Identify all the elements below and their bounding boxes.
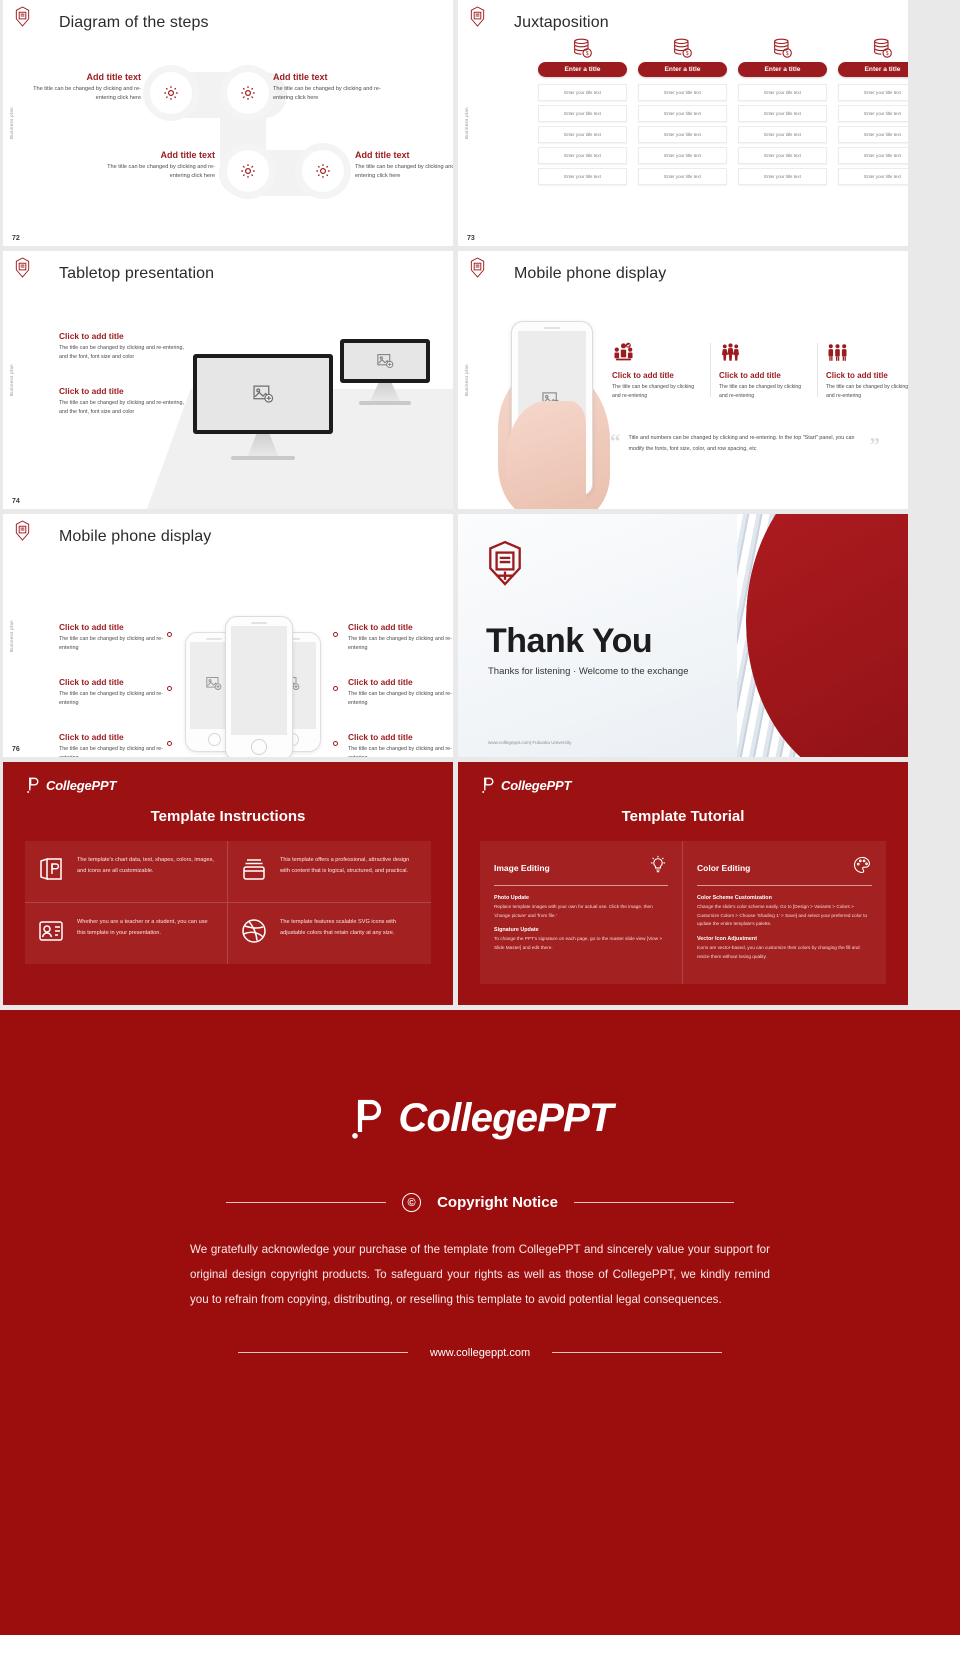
instruction-card-2: This template offers a professional, att…	[228, 841, 431, 903]
step-heading: Add title text	[19, 72, 141, 82]
feature-body: The title can be changed by clicking and…	[719, 383, 809, 401]
juxtaposition-column: $ Enter a title Enter your title text En…	[538, 38, 627, 189]
phone-mockup-center[interactable]	[225, 616, 293, 757]
instruction-card-4: The template features scalable SVG icons…	[228, 903, 431, 964]
thank-you-subtitle: Thanks for listening · Welcome to the ex…	[488, 666, 688, 677]
column-title-button[interactable]: Enter a title	[738, 62, 827, 77]
slide-template-tutorial[interactable]: CollegePPT Template Tutorial Image Editi…	[458, 762, 908, 1005]
collegeppt-wordmark: CollegePPT	[46, 778, 116, 793]
connector-dot	[167, 632, 172, 637]
feature-heading: Click to add title	[719, 371, 809, 380]
thank-you-title: Thank You	[486, 622, 652, 661]
box-icon	[240, 855, 268, 888]
page-title: Mobile phone display	[514, 265, 666, 283]
step-node-2[interactable]	[227, 72, 269, 114]
feature-column-3: Click to add title The title can be chan…	[818, 339, 908, 401]
tutorial-column-color-editing: Color Editing Color Scheme Customization…	[683, 841, 886, 984]
slide-thumbnail-grid: Business plan 72 Diagram of the steps Ad…	[0, 0, 960, 1005]
university-crest-icon	[13, 520, 32, 541]
team-check-icon	[612, 339, 702, 365]
instruction-card-text: The template features scalable SVG icons…	[280, 917, 419, 939]
collegeppt-logo: CollegePPT	[25, 776, 431, 794]
quote-close-icon: ”	[870, 437, 881, 454]
monitor-secondary[interactable]	[340, 339, 430, 405]
svg-text:$: $	[885, 51, 888, 57]
instruction-cards: The template's chart data, text, shapes,…	[25, 841, 431, 964]
step-node-3[interactable]	[227, 150, 269, 192]
group-three-icon	[826, 339, 908, 365]
quote-open-icon: “	[610, 433, 621, 454]
juxtaposition-cell[interactable]: Enter your title text	[638, 168, 727, 185]
sidebar-label: Business plan	[9, 364, 14, 396]
slide-juxtaposition[interactable]: Business plan 73 Juxtaposition $ Enter a…	[458, 0, 908, 246]
tabletop-text-block-1: Click to add title The title can be chan…	[59, 331, 189, 363]
divider-right	[552, 1352, 722, 1353]
tutorial-column-header: Color Editing	[697, 855, 872, 880]
svg-text:$: $	[785, 51, 788, 57]
tutorial-text: Replace template images with your own fo…	[494, 903, 668, 920]
tutorial-subtitle: Vector Icon Adjustment	[697, 936, 872, 942]
block-heading: Click to add title	[348, 732, 453, 742]
block-body: The title can be changed by clicking and…	[348, 745, 453, 757]
copyright-heading-row: © Copyright Notice	[226, 1193, 734, 1212]
juxtaposition-column: $ Enter a title Enter your title text En…	[738, 38, 827, 189]
page-title: Mobile phone display	[59, 528, 211, 546]
connector-dot	[333, 686, 338, 691]
step-heading: Add title text	[273, 72, 395, 82]
block-body: The title can be changed by clicking and…	[59, 635, 167, 654]
id-card-icon	[37, 917, 65, 950]
juxtaposition-columns: $ Enter a title Enter your title text En…	[538, 38, 908, 189]
tutorial-columns: Image Editing Photo Update Replace templ…	[480, 841, 886, 984]
tutorial-panel: CollegePPT Template Tutorial Image Editi…	[458, 762, 908, 1005]
juxtaposition-cell[interactable]: Enter your title text	[838, 84, 908, 101]
feature-body: The title can be changed by clicking and…	[826, 383, 908, 401]
page-number: 76	[12, 746, 20, 753]
connector-dot	[167, 686, 172, 691]
tutorial-subtitle: Color Scheme Customization	[697, 895, 872, 901]
juxtaposition-cell[interactable]: Enter your title text	[838, 105, 908, 122]
phone-left-block-3: Click to add title The title can be chan…	[59, 732, 167, 757]
juxtaposition-cell[interactable]: Enter your title text	[538, 168, 627, 185]
juxtaposition-cell[interactable]: Enter your title text	[738, 105, 827, 122]
feature-heading: Click to add title	[612, 371, 702, 380]
column-title-button[interactable]: Enter a title	[538, 62, 627, 77]
feature-column-1: Click to add title The title can be chan…	[604, 339, 710, 401]
juxtaposition-cell[interactable]: Enter your title text	[538, 147, 627, 164]
tutorial-column-title: Image Editing	[494, 863, 550, 873]
coins-stack-icon: $	[838, 38, 908, 58]
divider	[697, 885, 872, 886]
juxtaposition-cell[interactable]: Enter your title text	[838, 126, 908, 143]
tutorial-text: Change the slide's color scheme easily. …	[697, 903, 872, 929]
instruction-card-3: Whether you are a teacher or a student, …	[25, 903, 228, 964]
divider-right	[574, 1202, 734, 1203]
juxtaposition-cell[interactable]: Enter your title text	[738, 84, 827, 101]
collegeppt-mark-icon	[347, 1095, 387, 1141]
slide-tabletop-presentation[interactable]: Business plan 74 Tabletop presentation C…	[3, 251, 453, 509]
ppt-file-icon	[37, 855, 65, 888]
juxtaposition-cell[interactable]: Enter your title text	[738, 168, 827, 185]
lightbulb-icon	[648, 855, 668, 880]
coins-stack-icon: $	[538, 38, 627, 58]
connector-dot	[333, 632, 338, 637]
sidebar-label: Business plan	[464, 107, 469, 139]
block-heading: Click to add title	[59, 331, 189, 341]
juxtaposition-cell[interactable]: Enter your title text	[638, 126, 727, 143]
divider-left	[226, 1202, 386, 1203]
phone-left-block-1: Click to add title The title can be chan…	[59, 622, 167, 654]
block-heading: Click to add title	[59, 677, 167, 687]
website-url-row: www.collegeppt.com	[238, 1347, 722, 1359]
collegeppt-mark-icon	[25, 776, 41, 794]
block-body: The title can be changed by clicking and…	[59, 745, 167, 757]
thank-you-canvas: Thank You Thanks for listening · Welcome…	[458, 514, 908, 757]
step-body: The title can be changed by clicking and…	[19, 85, 141, 103]
tutorial-text: Icons are vector-based, you can customiz…	[697, 944, 872, 961]
slide-diagram-of-the-steps[interactable]: Business plan 72 Diagram of the steps Ad…	[3, 0, 453, 246]
step-text-3: Add title text The title can be changed …	[93, 150, 215, 181]
tabletop-text-block-2: Click to add title The title can be chan…	[59, 386, 189, 418]
feature-icon-row: Click to add title The title can be chan…	[604, 339, 908, 401]
step-body: The title can be changed by clicking and…	[355, 163, 453, 181]
instruction-card-text: Whether you are a teacher or a student, …	[77, 917, 215, 939]
juxtaposition-cell[interactable]: Enter your title text	[638, 147, 727, 164]
tutorial-text: To change the PPT's signature on each pa…	[494, 935, 668, 952]
step-body: The title can be changed by clicking and…	[93, 163, 215, 181]
step-node-1[interactable]	[150, 72, 192, 114]
feature-body: The title can be changed by clicking and…	[612, 383, 702, 401]
block-heading: Click to add title	[348, 622, 453, 632]
step-heading: Add title text	[355, 150, 453, 160]
phone-screen[interactable]	[231, 626, 288, 735]
palette-icon	[852, 855, 872, 880]
website-url[interactable]: www.collegeppt.com	[430, 1347, 530, 1359]
phone-right-block-1: Click to add title The title can be chan…	[348, 622, 453, 654]
copyright-heading: Copyright Notice	[437, 1194, 558, 1211]
column-title-button[interactable]: Enter a title	[838, 62, 908, 77]
slide-thank-you[interactable]: Thank You Thanks for listening · Welcome…	[458, 514, 908, 757]
quote-block: “ Title and numbers can be changed by cl…	[610, 433, 880, 454]
university-crest-icon	[13, 6, 32, 27]
copyright-mark-icon: ©	[402, 1193, 421, 1212]
block-heading: Click to add title	[348, 677, 453, 687]
phone-left-block-2: Click to add title The title can be chan…	[59, 677, 167, 709]
instruction-card-1: The template's chart data, text, shapes,…	[25, 841, 228, 903]
svg-text:$: $	[585, 51, 588, 57]
block-body: The title can be changed by clicking and…	[348, 690, 453, 709]
sidebar-label: Business plan	[9, 107, 14, 139]
block-heading: Click to add title	[59, 732, 167, 742]
collegeppt-logo-large: CollegePPT	[347, 1095, 612, 1141]
coins-stack-icon: $	[738, 38, 827, 58]
tutorial-subtitle: Photo Update	[494, 895, 668, 901]
block-heading: Click to add title	[59, 386, 189, 396]
step-body: The title can be changed by clicking and…	[273, 85, 395, 103]
juxtaposition-column: $ Enter a title Enter your title text En…	[638, 38, 727, 189]
page-number: 74	[12, 498, 20, 505]
svg-text:$: $	[685, 51, 688, 57]
page-title: Tabletop presentation	[59, 265, 214, 283]
block-body: The title can be changed by clicking and…	[59, 399, 189, 418]
juxtaposition-cell[interactable]: Enter your title text	[838, 168, 908, 185]
step-text-1: Add title text The title can be changed …	[19, 72, 141, 103]
juxtaposition-cell[interactable]: Enter your title text	[538, 126, 627, 143]
instructions-panel: CollegePPT Template Instructions The tem…	[3, 762, 453, 1005]
step-text-2: Add title text The title can be changed …	[273, 72, 395, 103]
slide-mobile-phone-display-three[interactable]: Business plan 76 Mobile phone display Cl…	[3, 514, 453, 757]
collegeppt-wordmark: CollegePPT	[501, 778, 571, 793]
juxtaposition-column: $ Enter a title Enter your title text En…	[838, 38, 908, 189]
step-node-4[interactable]	[302, 150, 344, 192]
panel-heading: Template Tutorial	[480, 808, 886, 825]
copyright-body: We gratefully acknowledge your purchase …	[190, 1238, 770, 1313]
monitor-primary[interactable]	[193, 354, 333, 460]
juxtaposition-cell[interactable]: Enter your title text	[738, 147, 827, 164]
image-placeholder-icon	[377, 353, 394, 369]
collegeppt-wordmark: CollegePPT	[398, 1096, 612, 1141]
thank-you-footer: www.collegeppt.com| Fukuoka University	[488, 740, 571, 745]
page-number: 73	[467, 235, 475, 242]
tutorial-column-title: Color Editing	[697, 863, 750, 873]
coins-stack-icon: $	[638, 38, 727, 58]
slide-template-instructions[interactable]: CollegePPT Template Instructions The tem…	[3, 762, 453, 1005]
juxtaposition-cell[interactable]: Enter your title text	[638, 105, 727, 122]
instruction-card-text: This template offers a professional, att…	[280, 855, 419, 877]
juxtaposition-cell[interactable]: Enter your title text	[538, 84, 627, 101]
page-title: Juxtaposition	[514, 14, 609, 32]
block-body: The title can be changed by clicking and…	[59, 344, 189, 363]
university-crest-icon	[13, 257, 32, 278]
collegeppt-logo: CollegePPT	[480, 776, 886, 794]
connector-dot	[167, 741, 172, 746]
tutorial-column-image-editing: Image Editing Photo Update Replace templ…	[480, 841, 683, 984]
juxtaposition-cell[interactable]: Enter your title text	[638, 84, 727, 101]
step-text-4: Add title text The title can be changed …	[355, 150, 453, 181]
quote-text: Title and numbers can be changed by clic…	[629, 433, 862, 454]
page-number: 72	[12, 235, 20, 242]
juxtaposition-cell[interactable]: Enter your title text	[838, 147, 908, 164]
juxtaposition-cell[interactable]: Enter your title text	[738, 126, 827, 143]
slide-mobile-phone-display-hand[interactable]: Business plan Mobile phone display	[458, 251, 908, 509]
image-placeholder-icon	[253, 384, 274, 404]
instruction-card-text: The template's chart data, text, shapes,…	[77, 855, 215, 877]
divider	[494, 885, 668, 886]
block-body: The title can be changed by clicking and…	[59, 690, 167, 709]
feature-column-2: Click to add title The title can be chan…	[711, 339, 817, 401]
collegeppt-mark-icon	[480, 776, 496, 794]
column-title-button[interactable]: Enter a title	[638, 62, 727, 77]
block-body: The title can be changed by clicking and…	[348, 635, 453, 654]
connector-dot	[333, 741, 338, 746]
crowd-icon	[719, 339, 809, 365]
sidebar-label: Business plan	[464, 364, 469, 396]
dribbble-icon	[240, 917, 268, 950]
university-crest-icon	[468, 257, 487, 278]
phone-right-block-2: Click to add title The title can be chan…	[348, 677, 453, 709]
phone-right-block-3: Click to add title The title can be chan…	[348, 732, 453, 757]
juxtaposition-cell[interactable]: Enter your title text	[538, 105, 627, 122]
panel-heading: Template Instructions	[25, 808, 431, 825]
tutorial-column-header: Image Editing	[494, 855, 668, 880]
block-heading: Click to add title	[59, 622, 167, 632]
image-placeholder-icon	[206, 676, 222, 696]
step-heading: Add title text	[93, 150, 215, 160]
page-title: Diagram of the steps	[59, 14, 209, 32]
sidebar-label: Business plan	[9, 620, 14, 652]
divider-left	[238, 1352, 408, 1353]
hand-fingers	[506, 401, 586, 509]
copyright-panel: CollegePPT © Copyright Notice We gratefu…	[0, 1010, 960, 1635]
university-crest-icon	[468, 6, 487, 27]
university-crest-icon	[484, 540, 526, 586]
feature-heading: Click to add title	[826, 371, 908, 380]
tutorial-subtitle: Signature Update	[494, 927, 668, 933]
